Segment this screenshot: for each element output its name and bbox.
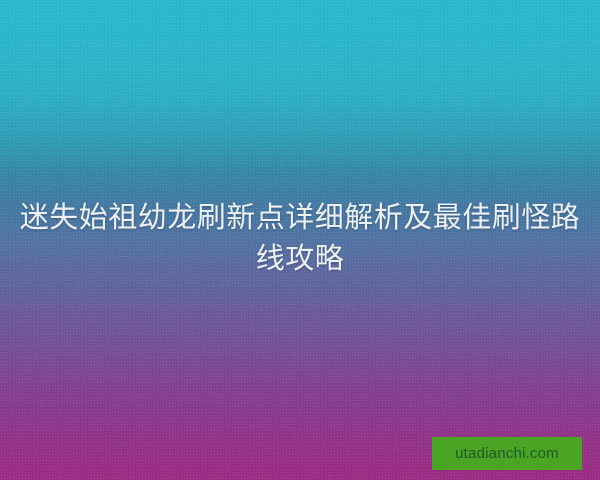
page-title: 迷失始祖幼龙刷新点详细解析及最佳刷怪路线攻略 (18, 198, 582, 280)
title-block: 迷失始祖幼龙刷新点详细解析及最佳刷怪路线攻略 (0, 198, 600, 280)
watermark-label: utadianchi.com (455, 446, 559, 461)
poster-canvas: 迷失始祖幼龙刷新点详细解析及最佳刷怪路线攻略 utadianchi.com (0, 0, 600, 480)
watermark-badge[interactable]: utadianchi.com (432, 437, 582, 470)
